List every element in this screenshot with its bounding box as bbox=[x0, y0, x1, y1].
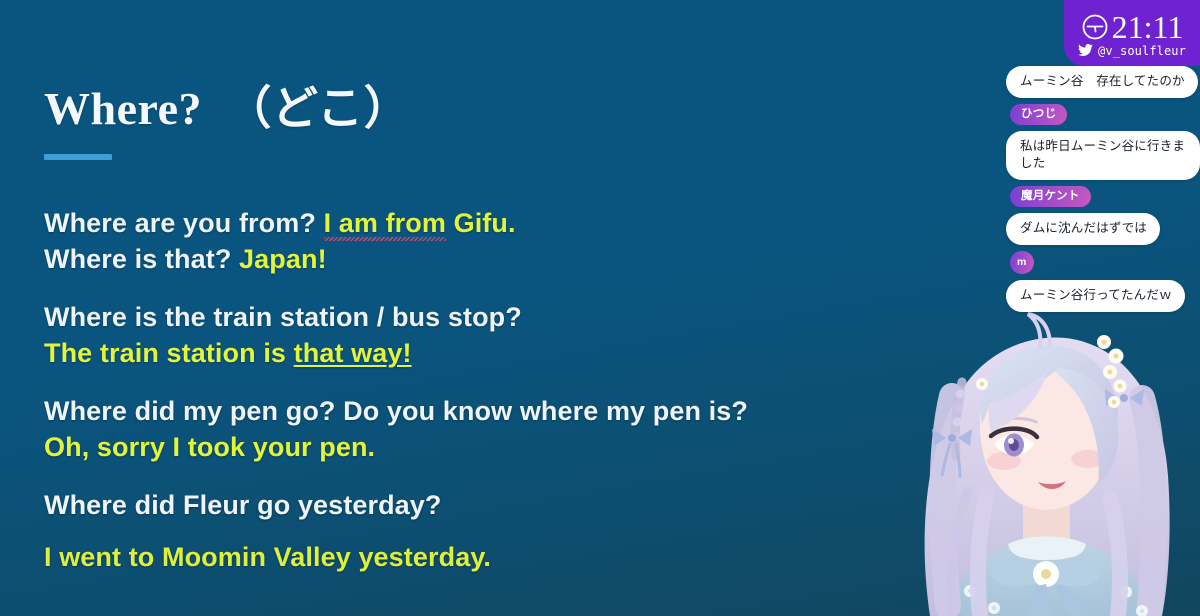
lesson-block: Where is the train station / bus stop? T… bbox=[44, 299, 884, 371]
lesson-block: Where did my pen go? Do you know where m… bbox=[44, 393, 884, 465]
answer-text-spellchecked: I am from bbox=[324, 208, 446, 238]
timer-row: 21:11 bbox=[1081, 11, 1184, 43]
lesson-line: I went to Moomin Valley yesterday. bbox=[44, 539, 884, 575]
answer-text-underlined: that way! bbox=[294, 338, 412, 368]
lesson-line: Oh, sorry I took your pen. bbox=[44, 429, 884, 465]
clock-icon bbox=[1081, 13, 1109, 41]
lesson-line: Where is the train station / bus stop? bbox=[44, 299, 884, 335]
spacer bbox=[44, 523, 884, 539]
vtuber-avatar bbox=[890, 286, 1200, 616]
chat-message: ムーミン谷行ってたんだｗ bbox=[1006, 280, 1185, 312]
title-accent-bar bbox=[44, 154, 112, 160]
timer-value: 21:11 bbox=[1112, 11, 1184, 43]
lesson-block: Where are you from? I am from Gifu. Wher… bbox=[44, 205, 884, 277]
page-title: Where? （どこ） bbox=[44, 72, 410, 138]
lesson-line: Where is that? Japan! bbox=[44, 241, 884, 277]
twitter-handle: @v_soulfleur bbox=[1098, 44, 1186, 58]
answer-text: Japan! bbox=[239, 244, 327, 274]
title-block: Where? （どこ） bbox=[44, 72, 410, 160]
answer-text: The train station is bbox=[44, 338, 294, 368]
chat-overlay: ムーミン谷 存在してたのか ひつじ 私は昨日ムーミン谷に行きました 魔月ケント … bbox=[996, 66, 1200, 312]
chat-message: ムーミン谷 存在してたのか bbox=[1006, 66, 1198, 98]
chat-message: 私は昨日ムーミン谷に行きました bbox=[1006, 131, 1200, 180]
chat-username-badge: m bbox=[1010, 251, 1034, 274]
question-text: Where is that? bbox=[44, 244, 239, 274]
lesson-content: Where are you from? I am from Gifu. Wher… bbox=[44, 205, 884, 597]
lesson-line: Where are you from? I am from Gifu. bbox=[44, 205, 884, 241]
lesson-line: Where did my pen go? Do you know where m… bbox=[44, 393, 884, 429]
lesson-block: Where did Fleur go yesterday? I went to … bbox=[44, 487, 884, 575]
chat-username-badge: 魔月ケント bbox=[1010, 186, 1091, 207]
chat-message: ダムに沈んだはずでは bbox=[1006, 213, 1160, 245]
lesson-line: The train station is that way! bbox=[44, 335, 884, 371]
vtuber-avatar-image bbox=[890, 286, 1200, 616]
question-text: Where are you from? bbox=[44, 208, 324, 238]
stream-timer-widget: 21:11 @v_soulfleur bbox=[1064, 0, 1200, 66]
answer-text: Gifu. bbox=[446, 208, 516, 238]
handle-row: @v_soulfleur bbox=[1078, 44, 1186, 58]
twitter-bird-icon bbox=[1078, 44, 1093, 57]
chat-username-badge: ひつじ bbox=[1010, 104, 1067, 125]
lesson-line: Where did Fleur go yesterday? bbox=[44, 487, 884, 523]
